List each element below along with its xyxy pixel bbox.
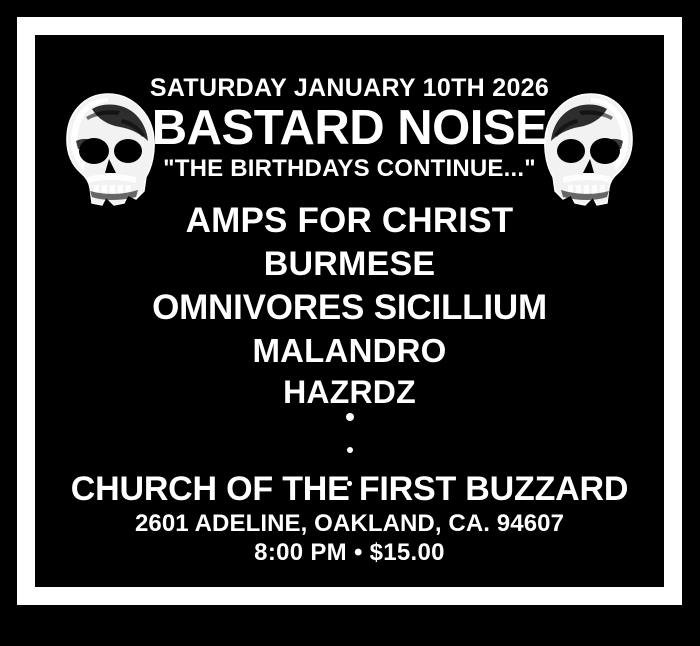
poster-content-area: SATURDAY JANUARY 10TH 2026 BASTARD NOISE…: [35, 35, 664, 587]
lineup-item: HAZRDZ: [35, 376, 664, 408]
venue-address: 2601 ADELINE, OAKLAND, CA. 94607: [35, 511, 664, 536]
band-lineup: AMPS FOR CHRIST BURMESE OMNIVORES SICILL…: [35, 203, 664, 417]
lineup-item: MALANDRO: [35, 334, 664, 367]
lineup-item: BURMESE: [35, 247, 664, 281]
flyer-header: SATURDAY JANUARY 10TH 2026 BASTARD NOISE…: [35, 75, 664, 182]
venue-name: CHURCH OF THE FIRST BUZZARD: [35, 472, 664, 507]
lineup-item: OMNIVORES SICILLIUM: [35, 290, 664, 325]
headliner-title: BASTARD NOISE: [35, 104, 664, 154]
separator-dot: [346, 413, 354, 421]
event-date: SATURDAY JANUARY 10TH 2026: [35, 75, 664, 102]
venue-info: CHURCH OF THE FIRST BUZZARD 2601 ADELINE…: [35, 472, 664, 565]
separator-dot: [347, 447, 353, 453]
show-details: 8:00 PM • $15.00: [35, 540, 664, 565]
event-tagline: "THE BIRTHDAYS CONTINUE...": [35, 156, 664, 181]
concert-flyer: SATURDAY JANUARY 10TH 2026 BASTARD NOISE…: [0, 0, 700, 646]
poster-white-border: SATURDAY JANUARY 10TH 2026 BASTARD NOISE…: [17, 17, 682, 605]
lineup-item: AMPS FOR CHRIST: [35, 203, 664, 238]
